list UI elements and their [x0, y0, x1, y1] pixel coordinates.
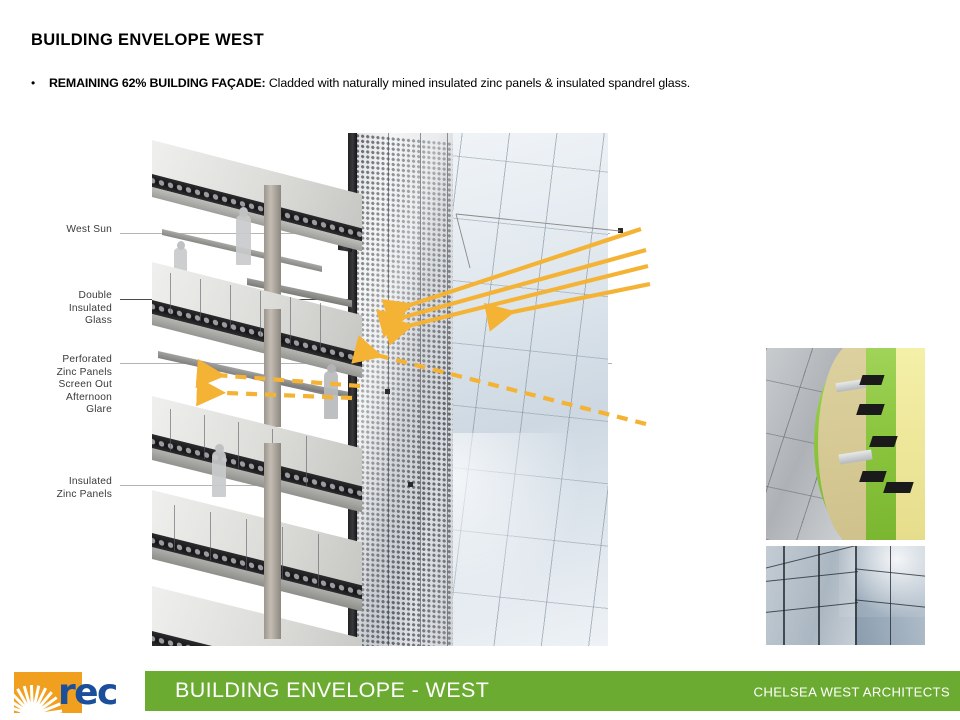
page-title: BUILDING ENVELOPE WEST [31, 31, 264, 50]
photo-panel-joint [818, 546, 819, 645]
curtain-wall-mullion [306, 436, 307, 486]
rec-logo-text: rec [58, 671, 117, 714]
photo-membrane-tab [884, 482, 914, 493]
curtain-wall-mullion [170, 273, 171, 313]
annotation-perforated-zinc-panels: Perforated Zinc Panels Screen Out Aftern… [2, 354, 112, 417]
annotation-line: Zinc Panels [2, 367, 112, 380]
occupant-figure-head [239, 207, 248, 217]
curtain-wall-mullion [170, 409, 171, 451]
curtain-wall-mullion [318, 534, 319, 586]
footer-title: BUILDING ENVELOPE - WEST [175, 678, 489, 703]
curtain-wall-mullion [320, 303, 321, 351]
footer-bar: BUILDING ENVELOPE - WEST CHELSEA WEST AR… [145, 671, 960, 711]
bullet-body-text: Cladded with naturally mined insulated z… [265, 76, 690, 90]
annotation-line: West Sun [2, 224, 112, 237]
screen-seam [420, 133, 421, 646]
curtain-wall-mullion [230, 285, 231, 329]
footer-firm-name: CHELSEA WEST ARCHITECTS [754, 684, 950, 699]
annotation-line: Zinc Panels [2, 489, 112, 502]
photo-membrane-tab [860, 471, 887, 482]
photo-panel-joint [890, 546, 891, 645]
annotation-insulated-zinc-panels: Insulated Zinc Panels [2, 476, 112, 501]
curtain-wall-mullion [246, 519, 247, 569]
curtain-wall-mullion [210, 512, 211, 560]
rec-logo: rec [14, 669, 142, 715]
structural-column [264, 543, 281, 639]
annotation-line: Glare [2, 404, 112, 417]
ray-origin-marker [618, 228, 623, 233]
occupant-figure [212, 451, 226, 497]
curtain-wall-mullion [204, 415, 205, 459]
screen-seam [388, 133, 389, 646]
photo-wall-assembly-detail [766, 348, 925, 540]
curtain-wall-mullion [290, 297, 291, 345]
occupant-figure-head [215, 444, 224, 453]
curtain-wall-mullion [200, 279, 201, 321]
curtain-wall-mullion [260, 291, 261, 337]
occupant-figure-head [327, 364, 336, 373]
bullet-marker: • [31, 75, 49, 91]
annotation-line: Afternoon [2, 392, 112, 405]
structural-column [264, 185, 281, 297]
photo-building-corner [855, 546, 857, 645]
structural-column [264, 443, 281, 549]
photo-panel-joint [783, 546, 784, 645]
perforated-zinc-screen [355, 133, 453, 646]
annotation-line: Insulated [2, 303, 112, 316]
annotation-line: Glass [2, 315, 112, 328]
photo-membrane-tab [869, 436, 898, 447]
photo-zinc-panel-corner [766, 546, 925, 645]
occupant-figure [236, 215, 251, 265]
occupant-figure [324, 371, 338, 419]
annotation-line: Perforated [2, 354, 112, 367]
photo-membrane-tab [860, 375, 885, 385]
curtain-wall-mullion [174, 505, 175, 551]
annotation-line: Insulated [2, 476, 112, 489]
annotation-west-sun: West Sun [2, 224, 112, 237]
bullet-strong-text: REMAINING 62% BUILDING FAÇADE: [49, 76, 265, 90]
structural-column [264, 309, 281, 427]
curtain-wall-mullion [238, 422, 239, 468]
annotation-line: Screen Out [2, 379, 112, 392]
building-section-rendering [152, 133, 608, 646]
curtain-wall-mullion [282, 527, 283, 579]
photo-membrane-tab [857, 404, 886, 415]
bullet-item: •REMAINING 62% BUILDING FAÇADE: Cladded … [31, 75, 690, 91]
annotation-line: Double [2, 290, 112, 303]
annotation-double-insulated-glass: Double Insulated Glass [2, 290, 112, 328]
occupant-figure-head [177, 241, 185, 250]
screen-seam [447, 133, 448, 646]
